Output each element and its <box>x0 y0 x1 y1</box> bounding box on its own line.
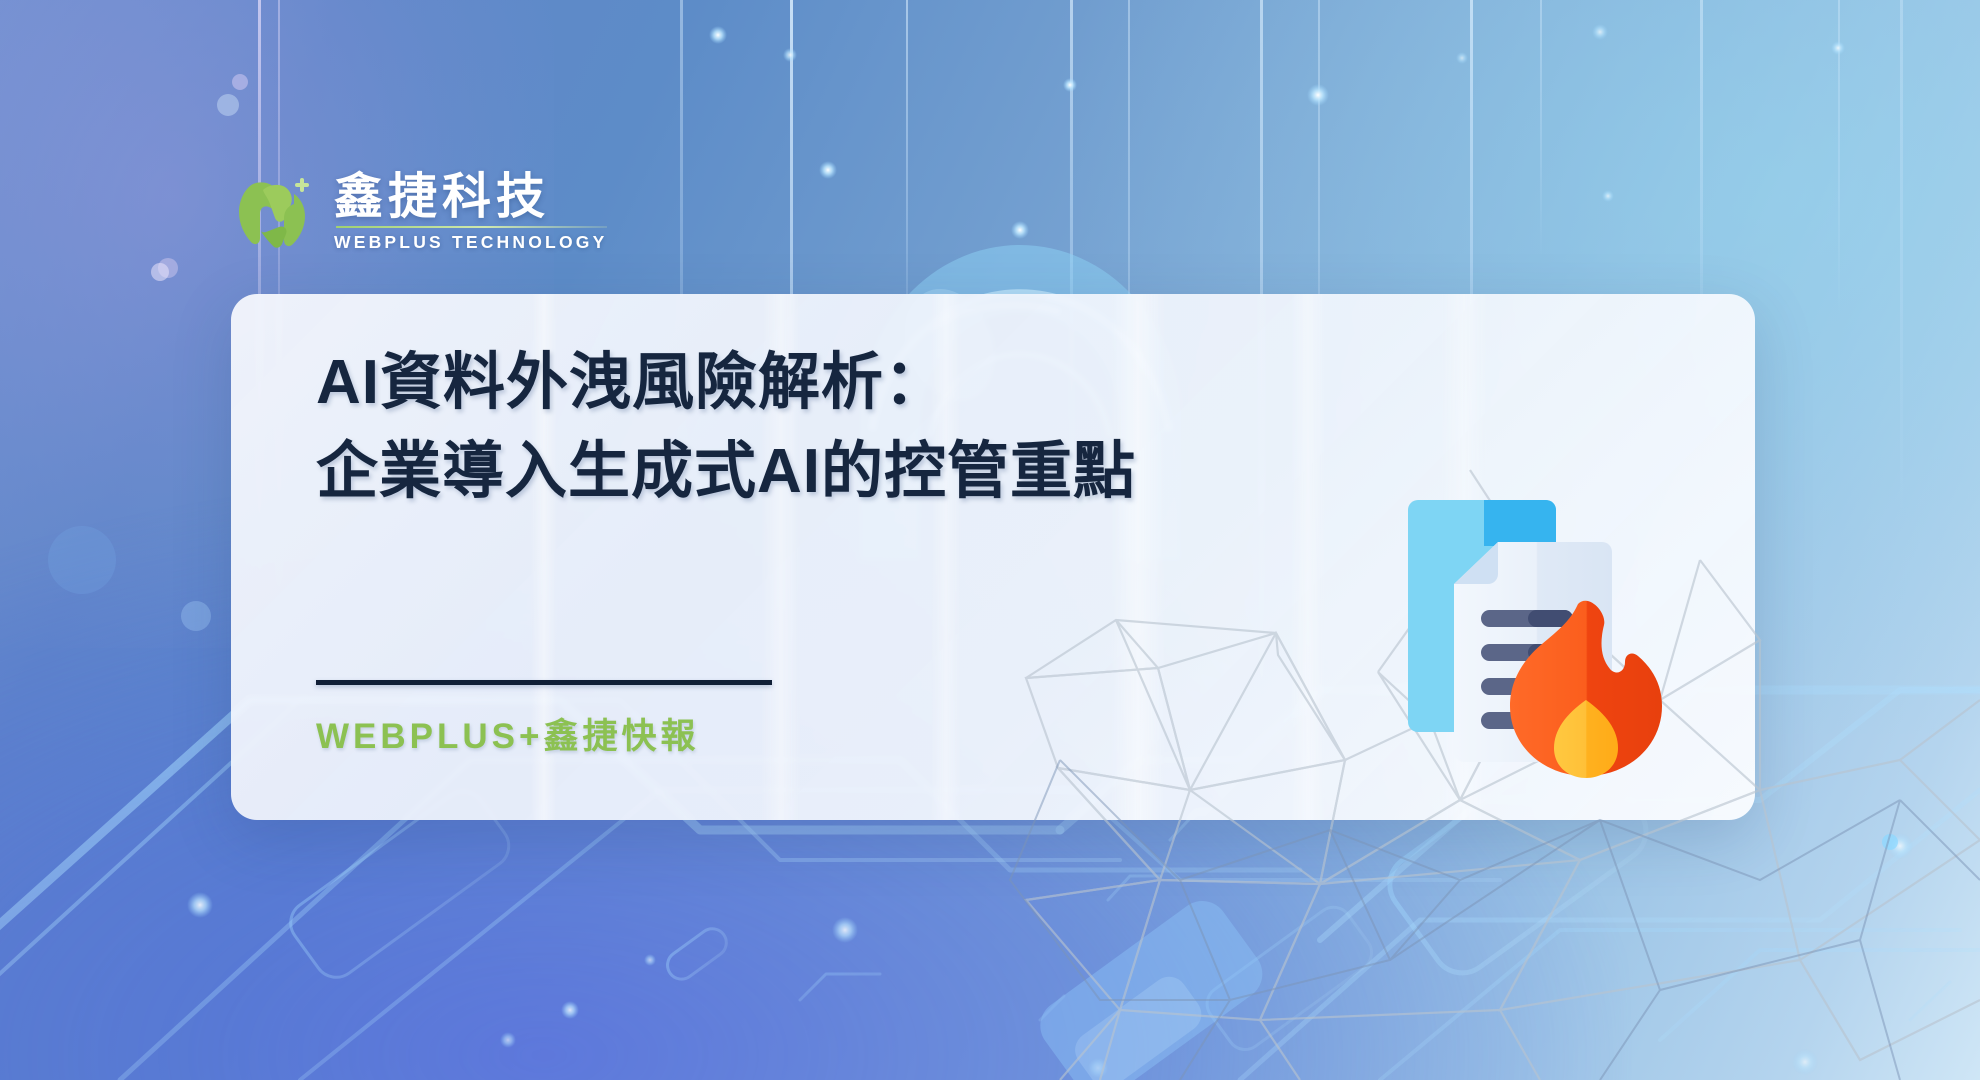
banner-canvas: 鑫捷科技 WEBPLUS TECHNOLOGY <box>0 0 1980 1080</box>
document-on-fire-icon <box>1406 452 1716 782</box>
divider-rule <box>316 680 772 685</box>
headline-line-1: AI資料外洩風險解析： <box>316 338 1336 427</box>
headline: AI資料外洩風險解析： 企業導入生成式AI的控管重點 <box>316 338 1336 517</box>
footer-kicker: WEBPLUS+鑫捷快報 <box>316 708 699 759</box>
headline-line-2: 企業導入生成式AI的控管重點 <box>316 427 1336 516</box>
